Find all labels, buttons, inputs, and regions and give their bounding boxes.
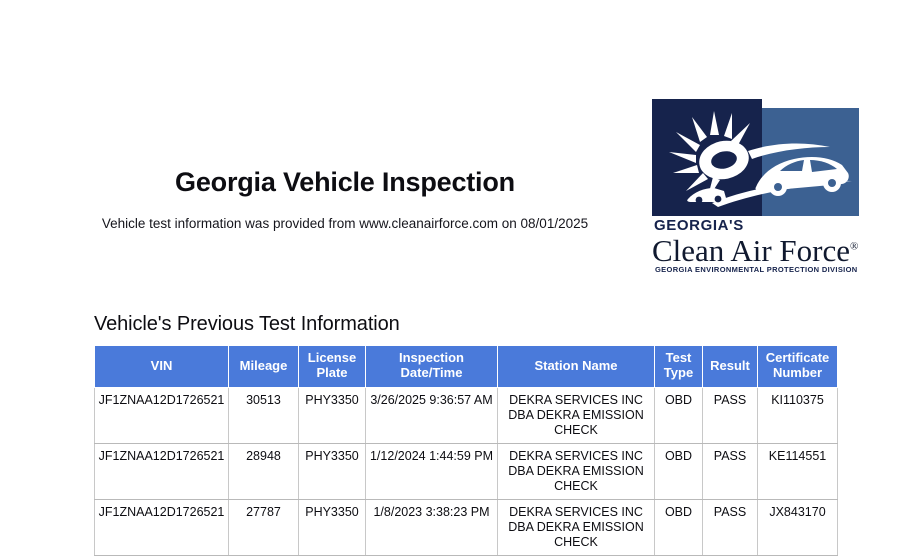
cell-station-name: DEKRA SERVICES INC DBA DEKRA EMISSION CH… xyxy=(498,388,655,444)
logo-wordmark-text: Clean Air Force xyxy=(652,233,850,268)
title-block: Georgia Vehicle Inspection Vehicle test … xyxy=(60,168,630,232)
column-header-test-type: TestType xyxy=(655,346,703,388)
cell-license-plate: PHY3350 xyxy=(299,444,366,500)
cell-station-name: DEKRA SERVICES INC DBA DEKRA EMISSION CH… xyxy=(498,444,655,500)
cell-mileage: 30513 xyxy=(229,388,299,444)
cell-test-type: OBD xyxy=(655,500,703,556)
logo-artwork xyxy=(652,99,859,216)
cell-certificate-number: KI110375 xyxy=(758,388,838,444)
previous-tests-table: VIN Mileage LicensePlate InspectionDate/… xyxy=(94,345,838,556)
column-header-certificate-number: CertificateNumber xyxy=(758,346,838,388)
cell-test-type: OBD xyxy=(655,388,703,444)
cell-inspection-datetime: 1/8/2023 3:38:23 PM xyxy=(366,500,498,556)
cell-vin: JF1ZNAA12D1726521 xyxy=(95,444,229,500)
cell-test-type: OBD xyxy=(655,444,703,500)
cell-vin: JF1ZNAA12D1726521 xyxy=(95,500,229,556)
column-header-result: Result xyxy=(703,346,758,388)
cell-license-plate: PHY3350 xyxy=(299,388,366,444)
page-subtitle: Vehicle test information was provided fr… xyxy=(60,198,630,232)
cell-certificate-number: KE114551 xyxy=(758,444,838,500)
page-title: Georgia Vehicle Inspection xyxy=(60,168,630,198)
column-header-mileage: Mileage xyxy=(229,346,299,388)
column-header-vin: VIN xyxy=(95,346,229,388)
column-header-inspection-datetime: InspectionDate/Time xyxy=(366,346,498,388)
cell-inspection-datetime: 1/12/2024 1:44:59 PM xyxy=(366,444,498,500)
cell-inspection-datetime: 3/26/2025 9:36:57 AM xyxy=(366,388,498,444)
cell-mileage: 27787 xyxy=(229,500,299,556)
table-body: JF1ZNAA12D1726521 30513 PHY3350 3/26/202… xyxy=(95,388,838,556)
table-header: VIN Mileage LicensePlate InspectionDate/… xyxy=(95,346,838,388)
sun-and-car-icon xyxy=(652,99,859,216)
previous-tests-table-wrapper: VIN Mileage LicensePlate InspectionDate/… xyxy=(94,345,837,556)
cell-vin: JF1ZNAA12D1726521 xyxy=(95,388,229,444)
document-header: Georgia Vehicle Inspection Vehicle test … xyxy=(0,0,916,300)
clean-air-force-logo: GEORGIA'S Clean Air Force® GEORGIA ENVIR… xyxy=(652,99,859,271)
cell-result: PASS xyxy=(703,500,758,556)
section-heading: Vehicle's Previous Test Information xyxy=(94,313,400,336)
table-row: JF1ZNAA12D1726521 30513 PHY3350 3/26/202… xyxy=(95,388,838,444)
cell-station-name: DEKRA SERVICES INC DBA DEKRA EMISSION CH… xyxy=(498,500,655,556)
logo-georgias-text: GEORGIA'S xyxy=(654,217,744,234)
cell-certificate-number: JX843170 xyxy=(758,500,838,556)
table-row: JF1ZNAA12D1726521 27787 PHY3350 1/8/2023… xyxy=(95,500,838,556)
column-header-license-plate: LicensePlate xyxy=(299,346,366,388)
registered-mark: ® xyxy=(850,241,858,253)
column-header-station-name: Station Name xyxy=(498,346,655,388)
table-header-row: VIN Mileage LicensePlate InspectionDate/… xyxy=(95,346,838,388)
table-row: JF1ZNAA12D1726521 28948 PHY3350 1/12/202… xyxy=(95,444,838,500)
cell-result: PASS xyxy=(703,388,758,444)
cell-result: PASS xyxy=(703,444,758,500)
cell-mileage: 28948 xyxy=(229,444,299,500)
cell-license-plate: PHY3350 xyxy=(299,500,366,556)
logo-wordmark: Clean Air Force® xyxy=(652,233,858,269)
logo-tagline: GEORGIA ENVIRONMENTAL PROTECTION DIVISIO… xyxy=(655,265,858,274)
